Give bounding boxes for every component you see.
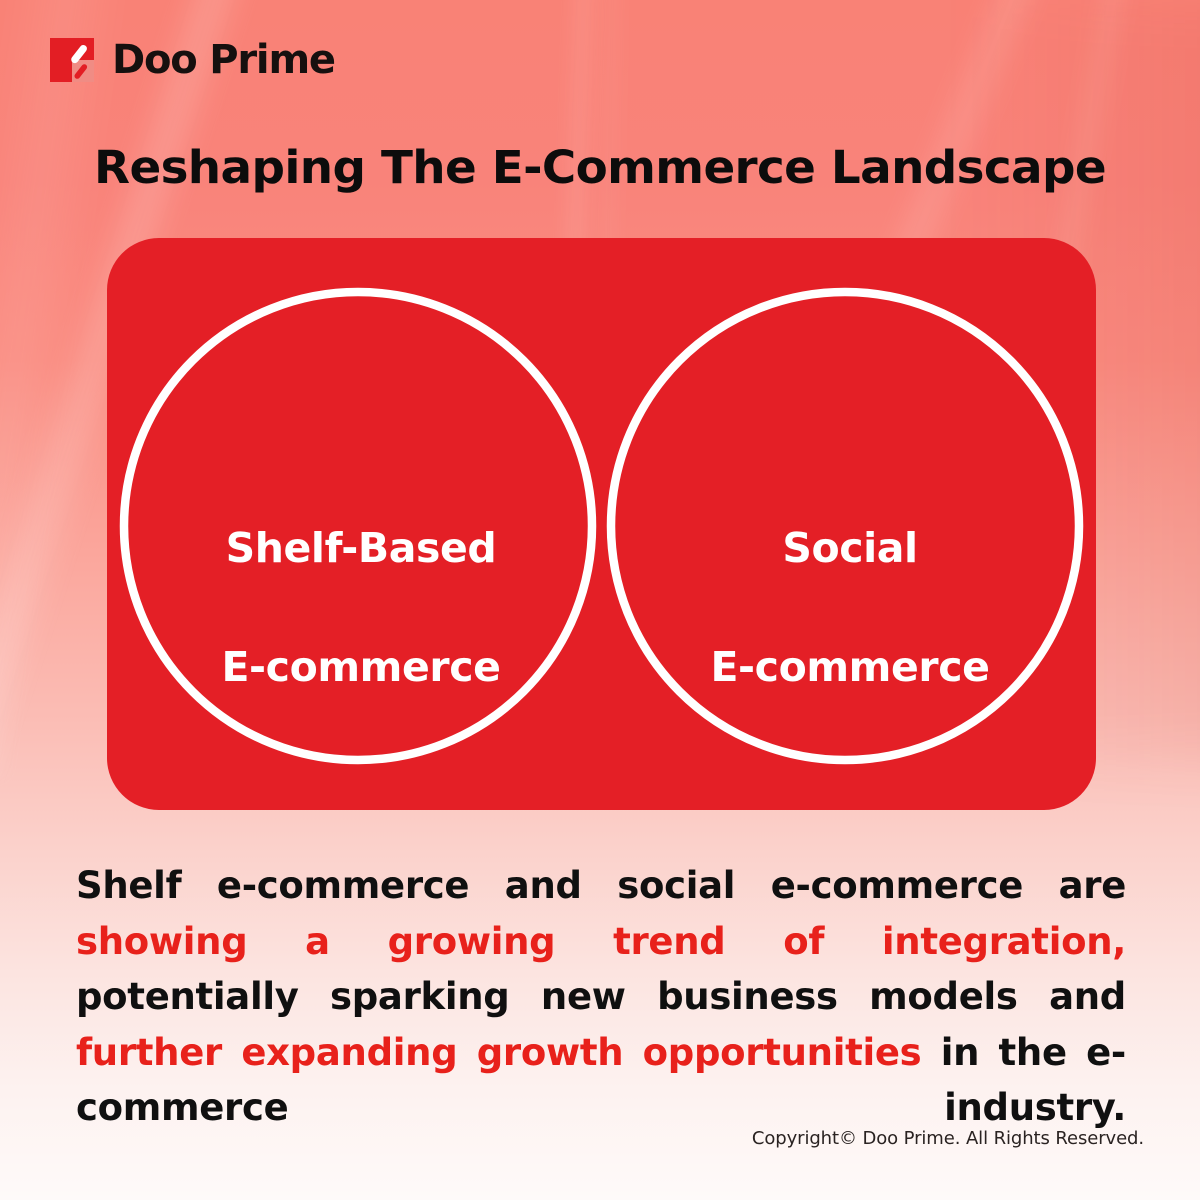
body-text-0: Shelf e-commerce and social e-commerce a… [76,864,1126,907]
copyright-text: Copyright© Doo Prime. All Rights Reserve… [752,1128,1144,1149]
venn-label-right: Social E-commerce [632,460,1068,757]
poster-canvas: Doo Prime Reshaping The E-Commerce Lands… [0,0,1200,1200]
venn-label-left: Shelf-Based E-commerce [143,460,579,757]
venn-diagram-panel: Shelf-Based E-commerce Social E-commerce [107,238,1096,810]
body-text-2: potentially sparking new business models… [76,975,1126,1018]
brand-logo: Doo Prime [48,36,335,84]
brand-name: Doo Prime [112,40,335,80]
venn-label-left-line1: Shelf-Based [143,519,579,578]
venn-label-right-line1: Social [632,519,1068,578]
page-title: Reshaping The E-Commerce Landscape [0,143,1200,193]
venn-label-right-line2: E-commerce [632,638,1068,697]
body-highlight-1: showing a growing trend of integration, [76,920,1126,963]
venn-label-left-line2: E-commerce [143,638,579,697]
doo-prime-logo-icon [48,36,96,84]
body-highlight-3: further expanding growth opportunities [76,1031,921,1074]
